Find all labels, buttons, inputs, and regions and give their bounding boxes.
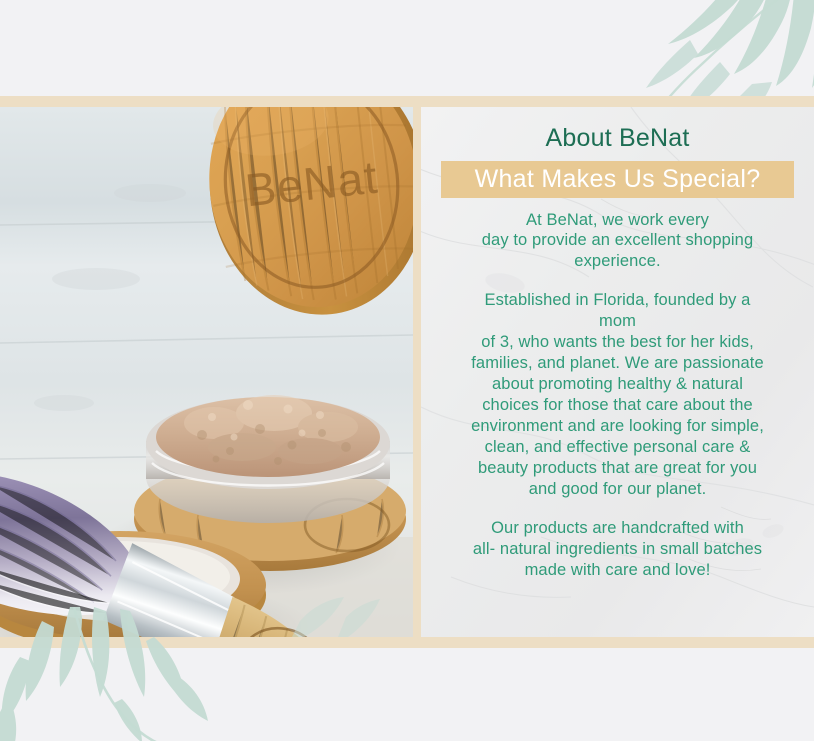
paragraph-line: of 3, who wants the best for her kids, [439, 332, 796, 353]
paragraph-line: At BeNat, we work every [439, 210, 796, 231]
paragraph-line: Our products are handcrafted with [439, 518, 796, 539]
product-photo: x [0, 107, 413, 637]
paragraph-line: day to provide an excellent shopping [439, 230, 796, 251]
panel-content: About BeNat What Makes Us Special? At Be… [421, 107, 814, 581]
paragraph-line: and good for our planet. [439, 479, 796, 500]
about-paragraph-3: Our products are handcrafted with all- n… [439, 518, 796, 581]
about-benat-page: x [0, 0, 814, 741]
about-text-panel: About BeNat What Makes Us Special? At Be… [421, 107, 814, 637]
paragraph-line: experience. [439, 251, 796, 272]
paragraph-line: beauty products that are great for you [439, 458, 796, 479]
paragraph-line: Established in Florida, founded by a [439, 290, 796, 311]
special-banner: What Makes Us Special? [441, 161, 794, 198]
paragraph-line: families, and planet. We are passionate [439, 353, 796, 374]
special-banner-label: What Makes Us Special? [475, 167, 761, 192]
about-paragraph-2: Established in Florida, founded by a mom… [439, 290, 796, 500]
paragraph-line: clean, and effective personal care & [439, 437, 796, 458]
paragraph-line: mom [439, 311, 796, 332]
paragraph-line: choices for those that care about the [439, 395, 796, 416]
photo-panel-divider [413, 107, 421, 637]
paragraph-line: environment and are looking for simple, [439, 416, 796, 437]
card-inner: x [0, 107, 814, 637]
paragraph-line: made with care and love! [439, 560, 796, 581]
paragraph-line: all- natural ingredients in small batche… [439, 539, 796, 560]
page-title: About BeNat [433, 125, 802, 153]
about-card: x [0, 96, 814, 648]
paragraph-line: about promoting healthy & natural [439, 374, 796, 395]
svg-text:BeNat: BeNat [270, 636, 291, 637]
about-paragraph-1: At BeNat, we work every day to provide a… [439, 210, 796, 273]
